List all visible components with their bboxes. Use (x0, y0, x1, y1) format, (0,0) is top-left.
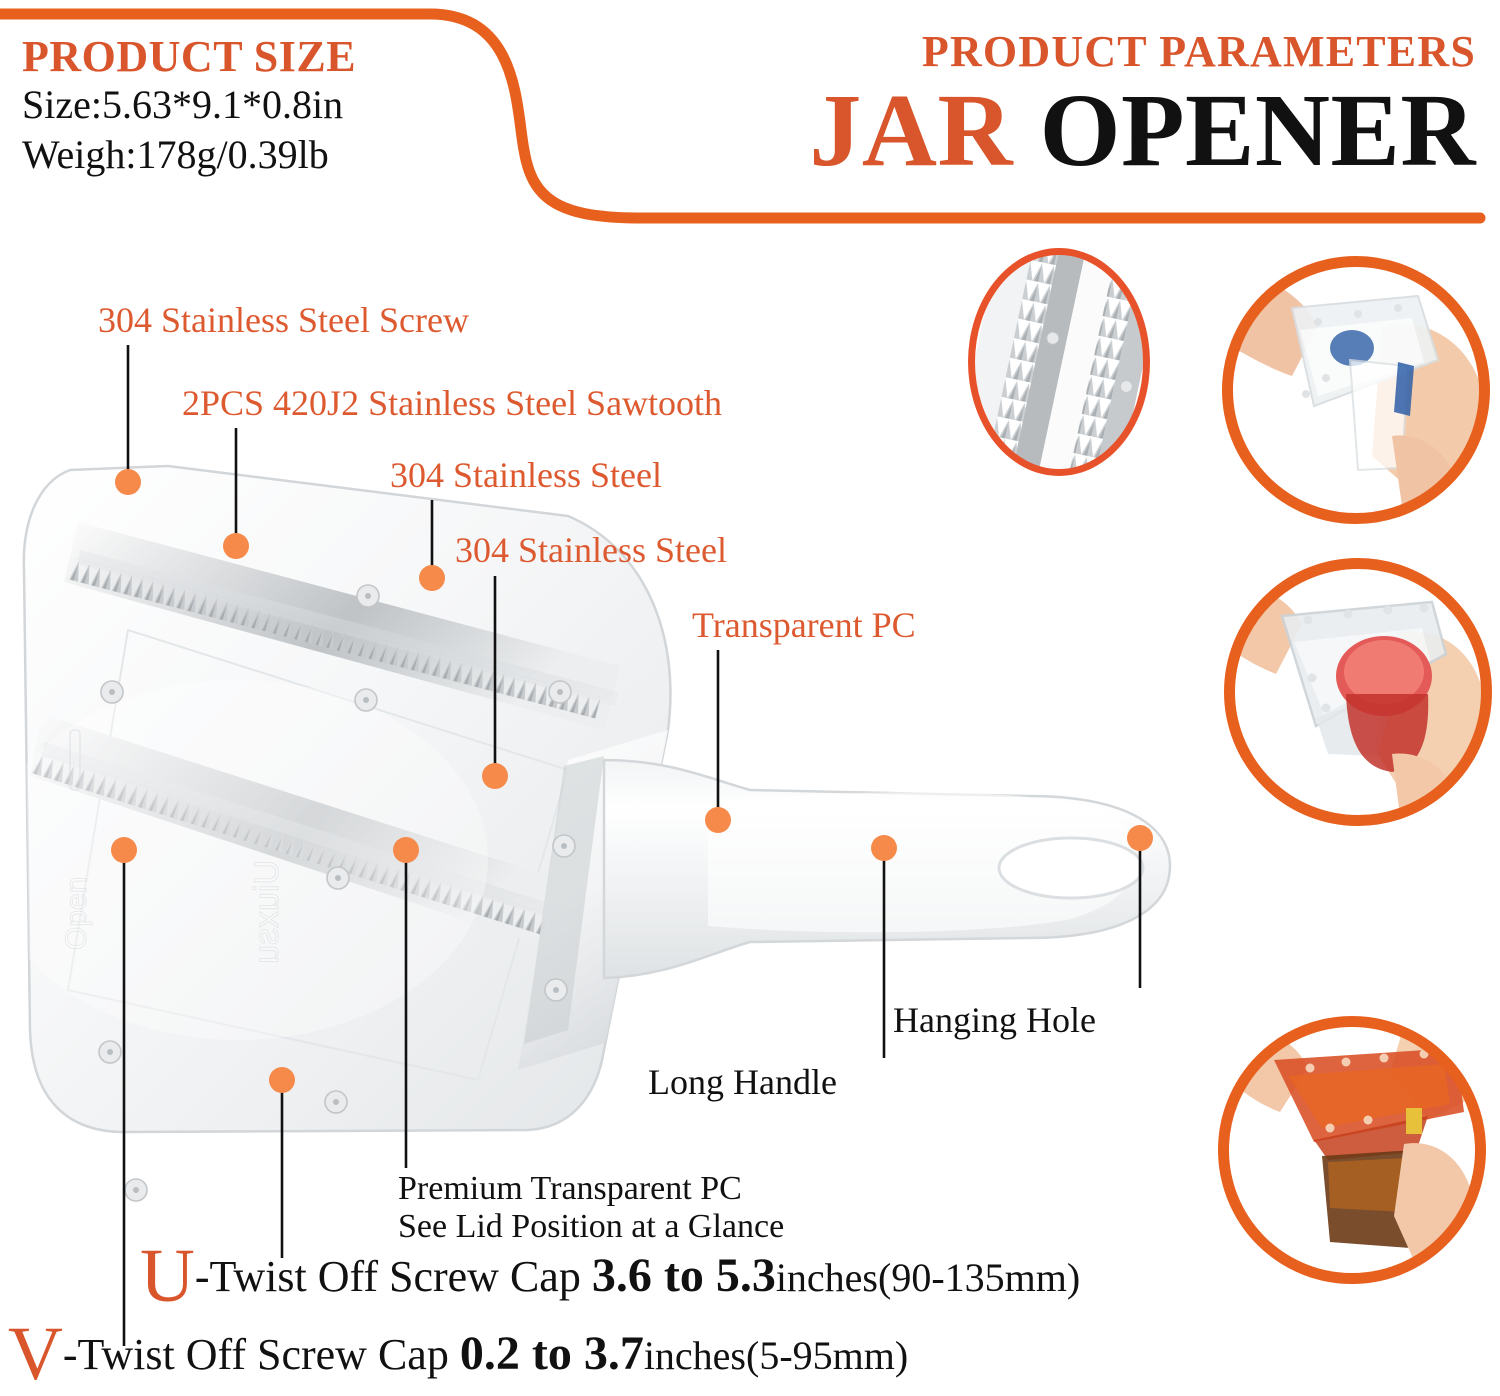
cap-range-letter-v: V (8, 1312, 63, 1396)
callout-label-transparent-pc: Transparent PC (692, 605, 916, 645)
inset-sawtooth-detail-ring (968, 248, 1150, 476)
cap-range-letter-u: U (140, 1234, 195, 1318)
embossed-brand-text: Uiuxsu (248, 860, 286, 964)
page-title-accent: JAR (809, 73, 1013, 188)
page-title-rest: OPENER (1013, 73, 1476, 188)
product-size-panel: PRODUCT SIZE Size:5.63*9.1*0.8in Weigh:1… (22, 34, 482, 180)
inset-amber-jar-ring (1218, 1016, 1486, 1284)
product-size-dimensions: Size:5.63*9.1*0.8in (22, 80, 482, 130)
callout-label-sawtooth: 2PCS 420J2 Stainless Steel Sawtooth (182, 383, 722, 423)
cap-range-units-v: inches(5-95mm) (644, 1333, 908, 1378)
product-size-weight: Weigh:178g/0.39lb (22, 130, 482, 180)
product-head-body: Uiuxsu Open (8, 466, 670, 1201)
callout-label-steel-a: 304 Stainless Steel (390, 455, 662, 495)
cap-range-text-v: -Twist Off Screw Cap (63, 1330, 460, 1379)
callout-label-screw: 304 Stainless Steel Screw (98, 300, 469, 340)
inset-water-bottle-ring (1222, 256, 1490, 524)
svg-text:Open: Open (60, 877, 93, 950)
callout-label-steel-b: 304 Stainless Steel (455, 530, 727, 570)
cap-range-row-u: U-Twist Off Screw Cap 3.6 to 5.3inches(9… (140, 1238, 1080, 1314)
callout-label-premium-pc: Premium Transparent PC See Lid Position … (398, 1170, 784, 1246)
svg-text:Uiuxsu: Uiuxsu (248, 860, 286, 964)
product-parameters-header: PRODUCT PARAMETERS JAR OPENER (809, 30, 1476, 184)
cap-range-row-v: V-Twist Off Screw Cap 0.2 to 3.7inches(5… (8, 1316, 908, 1392)
hanging-hole (999, 838, 1143, 898)
callout-label-long-handle: Long Handle (648, 1062, 837, 1102)
callout-label-premium-pc-line1: Premium Transparent PC (398, 1170, 784, 1208)
product-size-title: PRODUCT SIZE (22, 34, 482, 80)
cap-range-value-u: 3.6 to 5.3 (592, 1249, 776, 1302)
callout-label-hanging-hole: Hanging Hole (893, 1000, 1096, 1040)
cap-range-value-v: 0.2 to 3.7 (460, 1327, 644, 1380)
cap-range-text-u: -Twist Off Screw Cap (195, 1252, 592, 1301)
page-title: JAR OPENER (809, 78, 1476, 184)
product-long-handle (604, 760, 1170, 978)
infographic-canvas: PRODUCT SIZE Size:5.63*9.1*0.8in Weigh:1… (0, 0, 1500, 1389)
product-parameters-kicker: PRODUCT PARAMETERS (809, 30, 1476, 74)
cap-range-units-u: inches(90-135mm) (776, 1255, 1080, 1300)
inset-red-lid-jar-ring (1224, 558, 1492, 826)
